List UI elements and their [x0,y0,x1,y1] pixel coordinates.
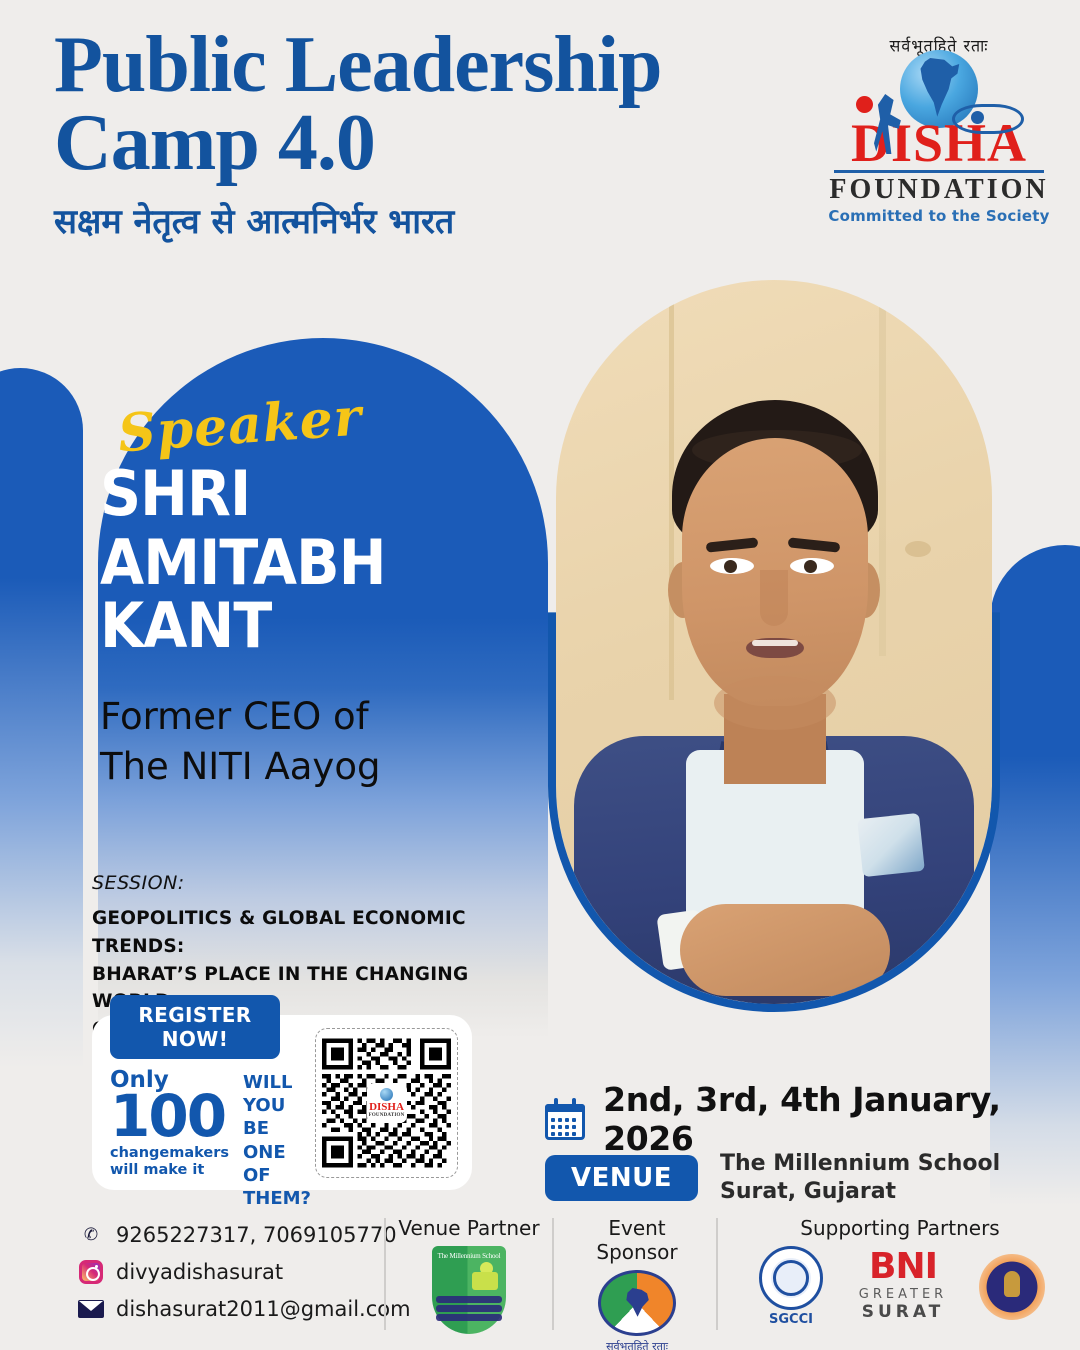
eye-right [790,558,834,574]
bni-logo: BNI GREATER SURAT [843,1251,963,1321]
bni-name: BNI [843,1251,963,1283]
venue-partner-title: Venue Partner [398,1216,540,1240]
phone-icon: ✆ [78,1222,104,1248]
seat-count-block: Only 100 changemakers will make it [110,1069,237,1179]
seat-count: 100 [110,1092,237,1142]
registration-left: REGISTER NOW! Only 100 changemakers will… [106,995,311,1209]
footer-divider-1 [384,1218,386,1330]
speaker-name-line1: SHRI [100,457,250,530]
qr-logo-globe-icon [380,1088,393,1101]
millennium-school-logo: The Millennium School [432,1246,506,1334]
venue-partner-logos: The Millennium School [398,1246,540,1334]
instagram-icon [79,1260,103,1284]
venue-badge: VENUE [545,1155,698,1201]
event-sponsor-logos: सर्वभुतहिते रताः [566,1270,708,1350]
envelope-icon [78,1300,104,1318]
bni-greater: GREATER [843,1287,963,1302]
event-sponsor-group: Event Sponsor सर्वभुतहिते रताः [566,1216,708,1350]
contact-phone[interactable]: ✆ 9265227317, 7069105770 [78,1222,411,1248]
page-subtitle: सक्षम नेतृत्व से आत्मनिर्भर भारत [54,197,662,243]
supporting-partners-title: Supporting Partners [730,1216,1070,1240]
millennium-school-caption: The Millennium School [436,1252,502,1260]
session-label: SESSION: [92,872,552,894]
registration-stats: Only 100 changemakers will make it WILL … [106,1069,311,1209]
sgcci-name: SGCCI [755,1312,827,1327]
logo-dot [856,96,873,113]
disha-foundation-logo: सर्वभूतहिते रताः DISHA FOUNDATION Commit… [828,34,1050,225]
event-date-row: 2nd, 3rd, 4th January, 2026 [545,1080,1080,1158]
qr-logo-name: DISHA [369,1102,404,1113]
qr-logo-org: FOUNDATION [369,1113,405,1118]
event-poster: Public Leadership Camp 4.0 सक्षम नेतृत्व… [0,0,1080,1350]
poster-footer: ✆ 9265227317, 7069105770 divyadishasurat… [0,1210,1080,1350]
logo-wordmark: DISHA [828,120,1050,168]
qr-center-logo: DISHA FOUNDATION [367,1083,407,1123]
eye-icon [952,104,1024,134]
sgcci-emblem-icon [759,1246,823,1310]
event-date: 2nd, 3rd, 4th January, 2026 [603,1080,1080,1158]
event-sponsor-title: Event Sponsor [566,1216,708,1264]
contact-list: ✆ 9265227317, 7069105770 divyadishasurat… [78,1222,411,1333]
supporting-partners-group: Supporting Partners SGCCI BNI GREATER SU… [730,1216,1070,1327]
phone-number: 9265227317, 7069105770 [116,1223,397,1247]
footer-divider-2 [552,1218,554,1330]
navsarjan-sanskrit: सर्वभुतहिते रताः [594,1339,680,1350]
logo-org: FOUNDATION [828,176,1050,204]
eye-left [710,558,754,574]
venue-address: The Millennium School Surat, Gujarat [720,1150,1000,1206]
speaker-name: SHRI AMITABH KANT [100,462,505,658]
event-venue-row: VENUE The Millennium School Surat, Gujar… [545,1150,1000,1206]
seat-count-caption: changemakers will make it [110,1145,237,1179]
registration-question: WILL YOU BE ONE OF THEM? [243,1069,311,1209]
supporting-partners-logos: SGCCI BNI GREATER SURAT [730,1246,1070,1327]
speaker-role: Former CEO of The NITI Aayog [100,692,540,792]
lions-emblem-logo [979,1254,1045,1320]
register-now-button[interactable]: REGISTER NOW! [110,995,280,1059]
instagram-handle: divyadishasurat [116,1260,283,1284]
contact-email[interactable]: dishasurat2011@gmail.com [78,1296,411,1322]
speaker-label: Speaker [116,392,363,461]
contact-instagram[interactable]: divyadishasurat [78,1259,411,1285]
navsarjan-logo: सर्वभुतहिते रताः [594,1270,680,1350]
email-address: dishasurat2011@gmail.com [116,1297,411,1321]
poster-header: Public Leadership Camp 4.0 सक्षम नेतृत्व… [54,26,662,243]
registration-card: REGISTER NOW! Only 100 changemakers will… [92,1015,472,1190]
footer-divider-3 [716,1218,718,1330]
sgcci-logo: SGCCI [755,1246,827,1327]
calendar-icon [545,1098,585,1140]
speaker-name-line2: AMITABH KANT [100,531,505,657]
bni-surat: SURAT [843,1302,963,1322]
speaker-photo [548,272,1000,1012]
logo-tagline: Committed to the Society [828,207,1050,225]
speaker-details: Speaker SHRI AMITABH KANT Former CEO of … [100,400,540,792]
qr-code[interactable]: DISHA FOUNDATION [315,1028,458,1178]
instagram-icon-wrap [78,1259,104,1285]
decorative-arch-left [0,368,83,1068]
venue-partner-group: Venue Partner The Millennium School [398,1216,540,1334]
navsarjan-seal-icon [598,1270,676,1336]
email-icon-wrap [78,1296,104,1322]
page-title: Public Leadership Camp 4.0 [54,26,662,183]
